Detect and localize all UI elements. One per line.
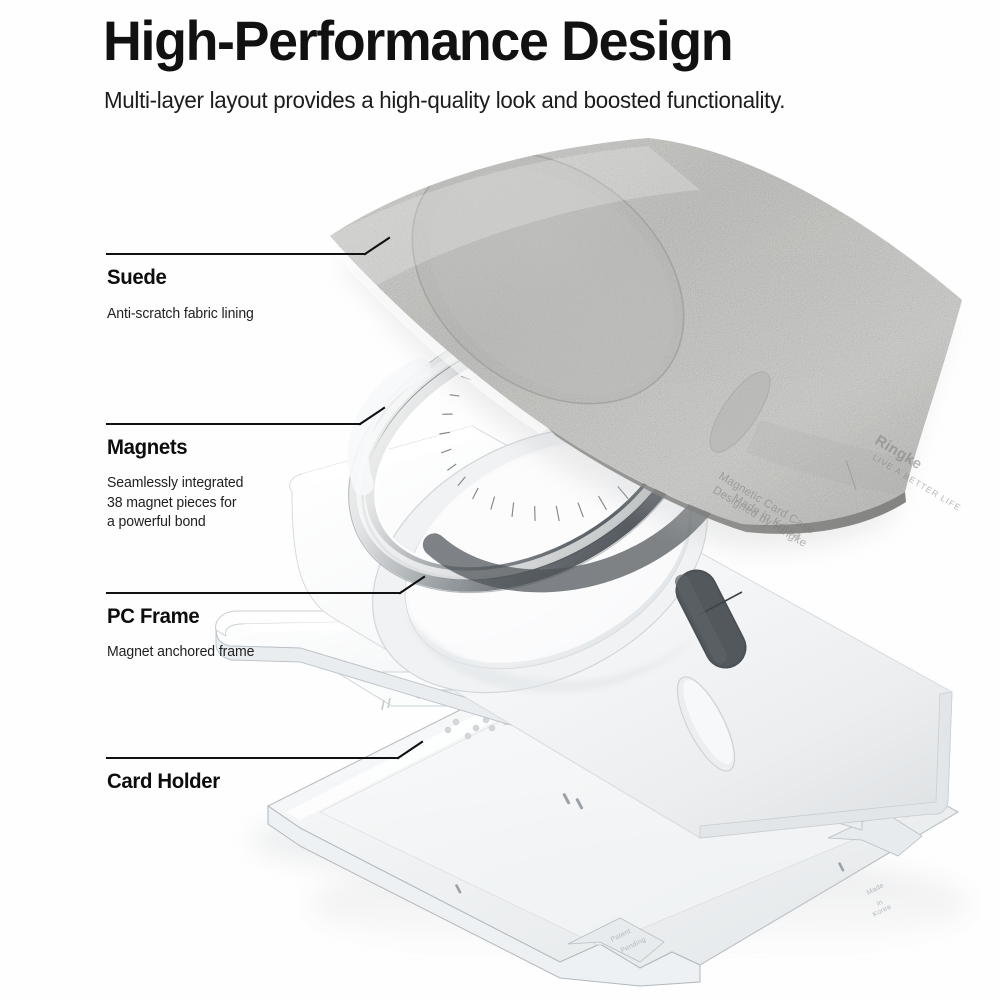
leader-arrow-suede bbox=[365, 238, 389, 254]
leader-arrow-card-holder bbox=[398, 742, 422, 758]
page-subtitle: Multi-layer layout provides a high-quali… bbox=[104, 84, 785, 117]
page-title: High-Performance Design bbox=[103, 12, 732, 69]
callout-desc-suede: Anti-scratch fabric lining bbox=[107, 305, 254, 325]
callout-title-pc-frame: PC Frame bbox=[107, 605, 199, 629]
callout-desc-magnets: Seamlessly integrated 38 magnet pieces f… bbox=[107, 474, 243, 533]
product-exploded-diagram: Made in Korea Patent Pending bbox=[0, 0, 1000, 1000]
callout-desc-pc-frame: Magnet anchored frame bbox=[107, 643, 254, 663]
leader-arrow-magnets bbox=[360, 408, 384, 424]
callout-title-magnets: Magnets bbox=[107, 436, 187, 460]
callout-title-card-holder: Card Holder bbox=[107, 770, 220, 794]
leader-arrow-pc-frame bbox=[400, 577, 424, 593]
callout-title-suede: Suede bbox=[107, 266, 166, 290]
